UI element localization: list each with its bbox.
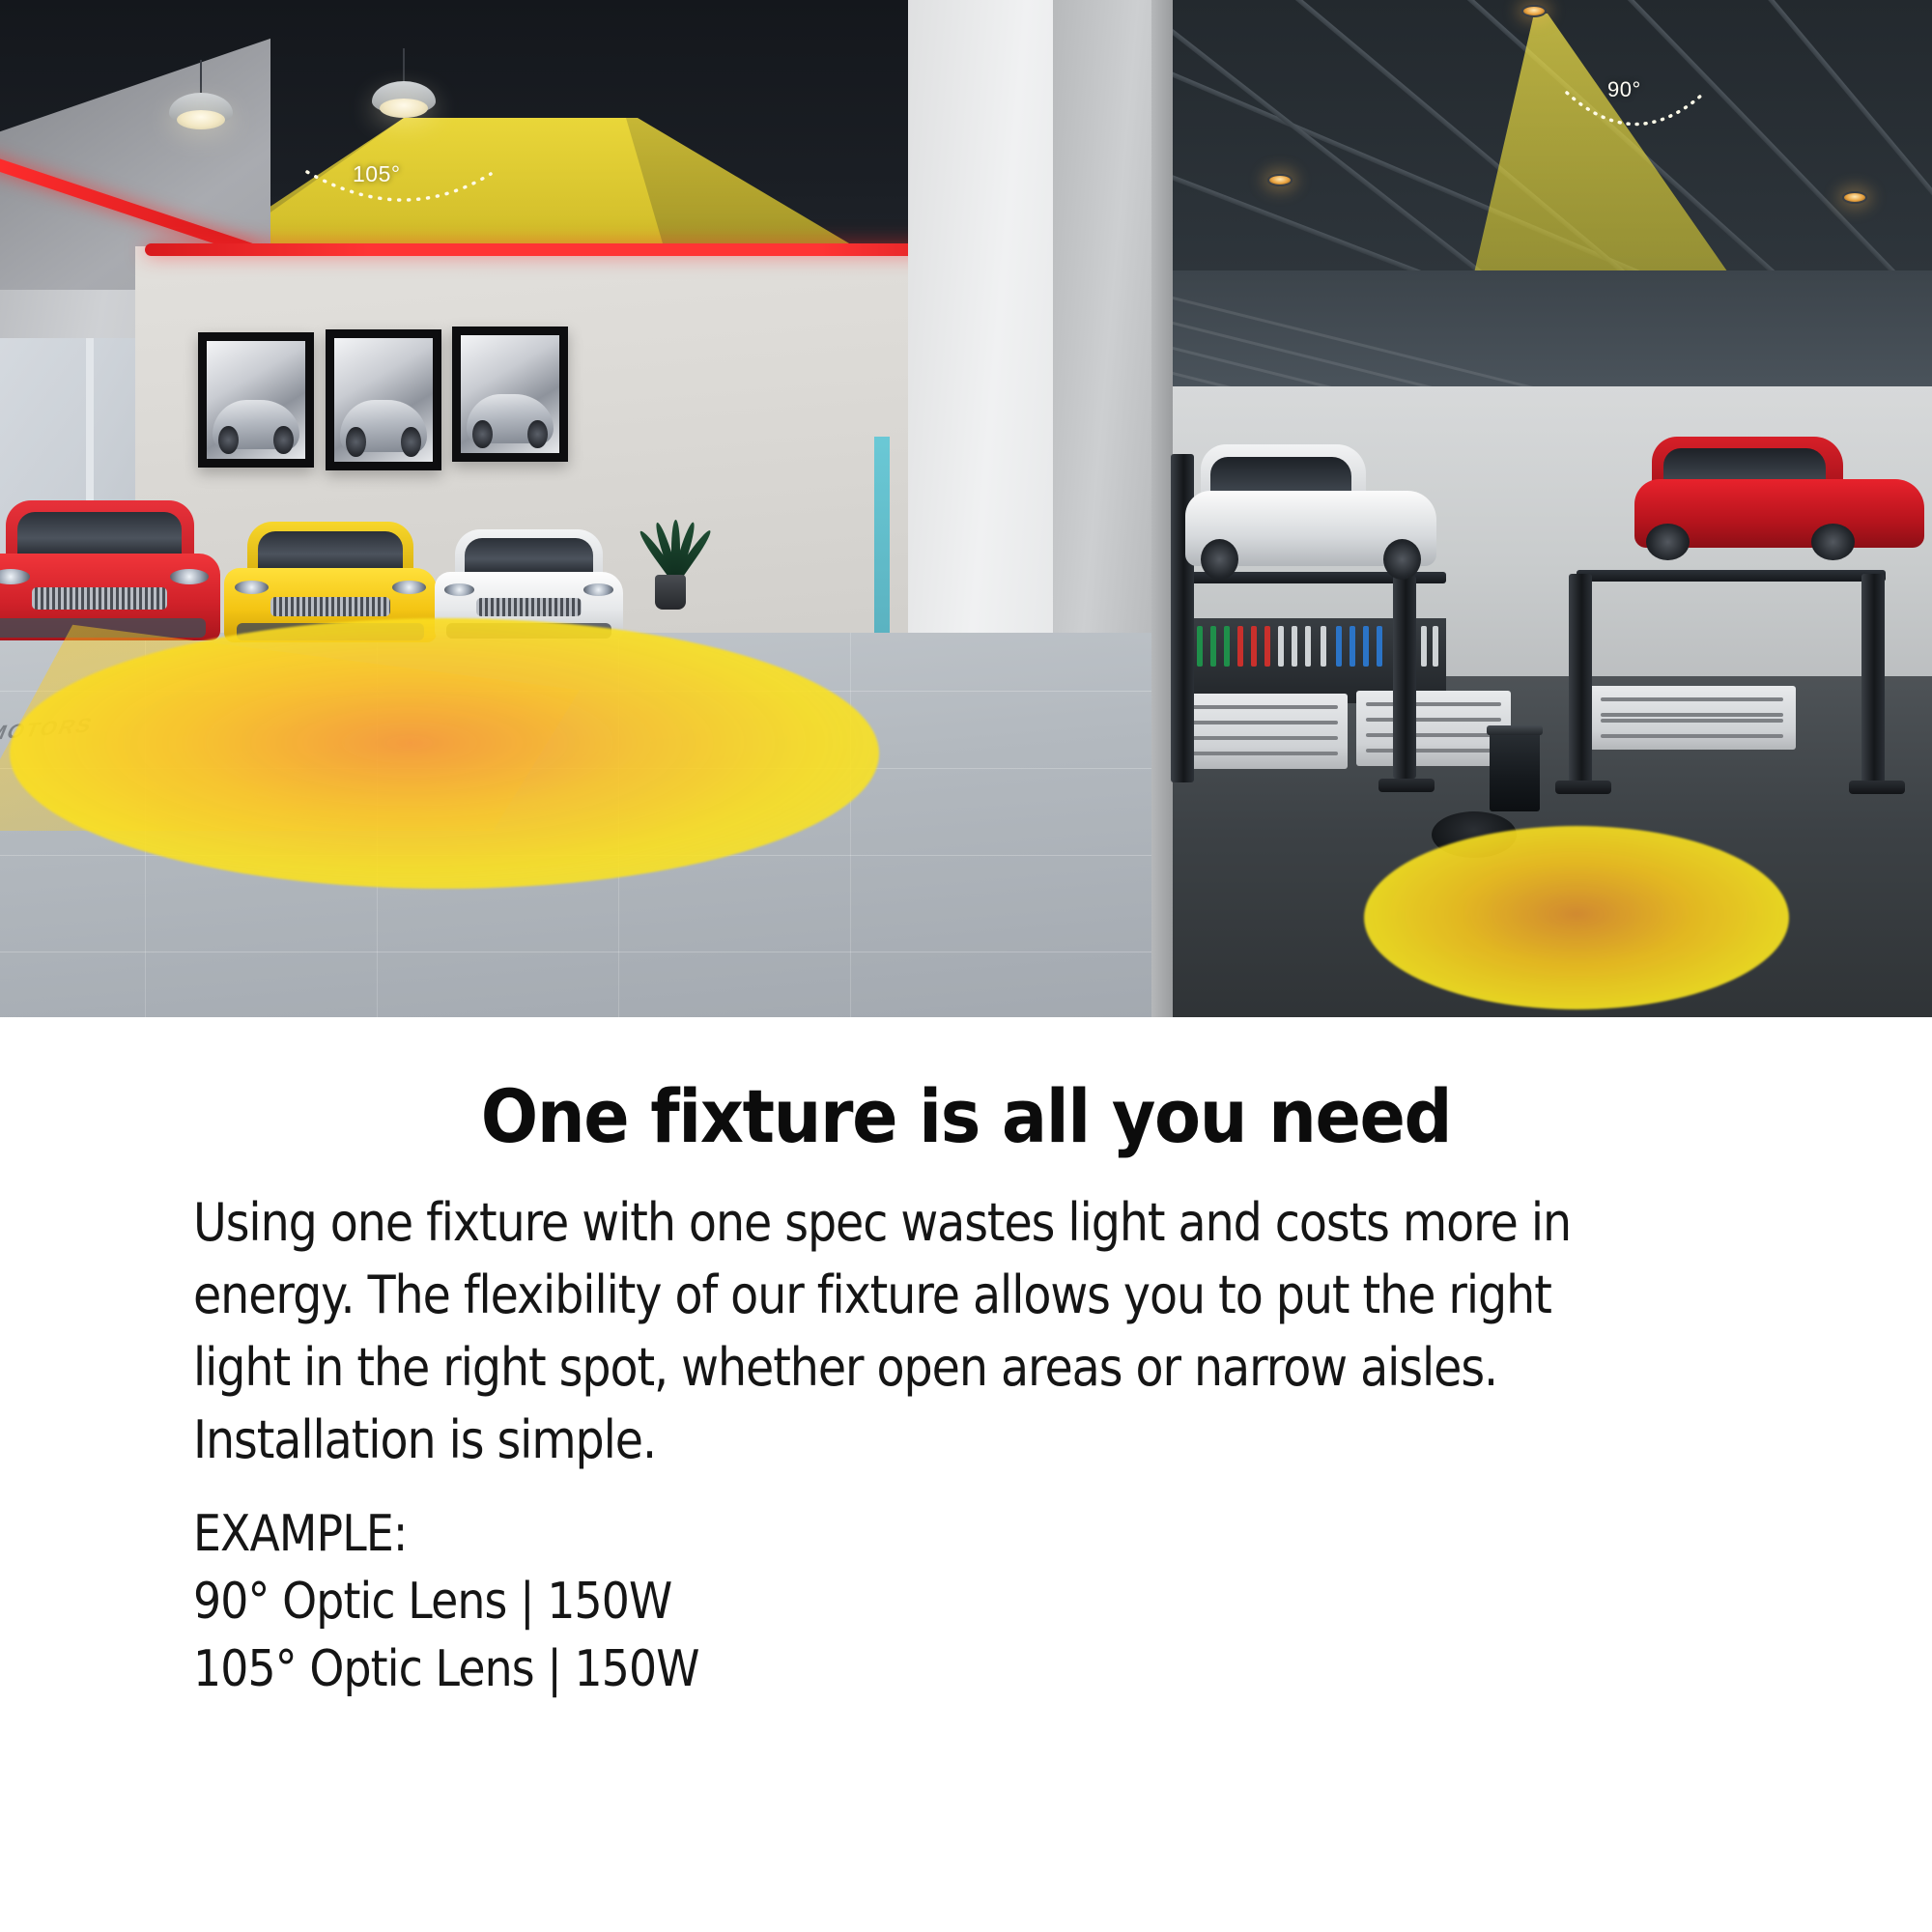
recessed-downlight (1267, 174, 1293, 186)
trash-can (1490, 730, 1540, 811)
recessed-downlight (1521, 5, 1547, 17)
example-block: EXAMPLE: 90° Optic Lens | 150W 105° Opti… (193, 1500, 1383, 1703)
content-section: One fixture is all you need Using one fi… (0, 1017, 1932, 1932)
lift-foot (1555, 781, 1611, 794)
pendant-glow (177, 110, 225, 129)
service-garage-scene-90-degree: 90° (1151, 0, 1932, 1017)
potted-plant-pot (655, 575, 686, 610)
tool-chest (1588, 686, 1796, 750)
tool-chest (1179, 694, 1348, 769)
lift-post (1393, 576, 1416, 779)
light-pool-90 (1364, 826, 1789, 1009)
example-label: EXAMPLE: (193, 1500, 1383, 1568)
beam-angle-label-90: 90° (1607, 77, 1641, 102)
wall-art-frame (198, 332, 314, 468)
body-paragraph: Using one fixture with one spec wastes l… (193, 1186, 1587, 1476)
beam-angle-label-105: 105° (353, 161, 401, 187)
showroom-car-red (0, 500, 220, 640)
pendant-cord (200, 60, 202, 93)
art-wheel (346, 427, 365, 457)
pendant-light-fixture (169, 60, 233, 137)
lift-post (1569, 574, 1592, 784)
pendant-cord (403, 48, 405, 81)
art-wheel (273, 426, 293, 454)
page-title: One fixture is all you need (77, 1080, 1855, 1153)
art-wheel (527, 420, 547, 448)
recessed-downlight (1842, 191, 1867, 204)
garage-left-column (1151, 0, 1173, 1017)
potted-plant-leaves (641, 510, 701, 580)
light-pool-105 (10, 618, 879, 889)
lift-foot (1849, 781, 1905, 794)
wall-art-frame (326, 329, 441, 470)
lift-foot (1378, 779, 1435, 792)
wall-art-frame (452, 327, 568, 462)
pendant-light-fixture (372, 48, 436, 126)
example-spec-90: 90° Optic Lens | 150W (193, 1568, 1383, 1635)
art-wheel (472, 420, 492, 448)
example-spec-105: 105° Optic Lens | 150W (193, 1635, 1383, 1703)
showroom-scene-105-degree: 105° (0, 0, 1151, 1017)
art-wheel (218, 426, 238, 454)
lifted-car-red (1634, 437, 1924, 560)
art-wheel (401, 427, 420, 457)
photo-band: 105° (0, 0, 1932, 1017)
pendant-glow (380, 99, 428, 118)
lifted-car-white (1185, 444, 1436, 580)
lift-post (1861, 574, 1885, 784)
